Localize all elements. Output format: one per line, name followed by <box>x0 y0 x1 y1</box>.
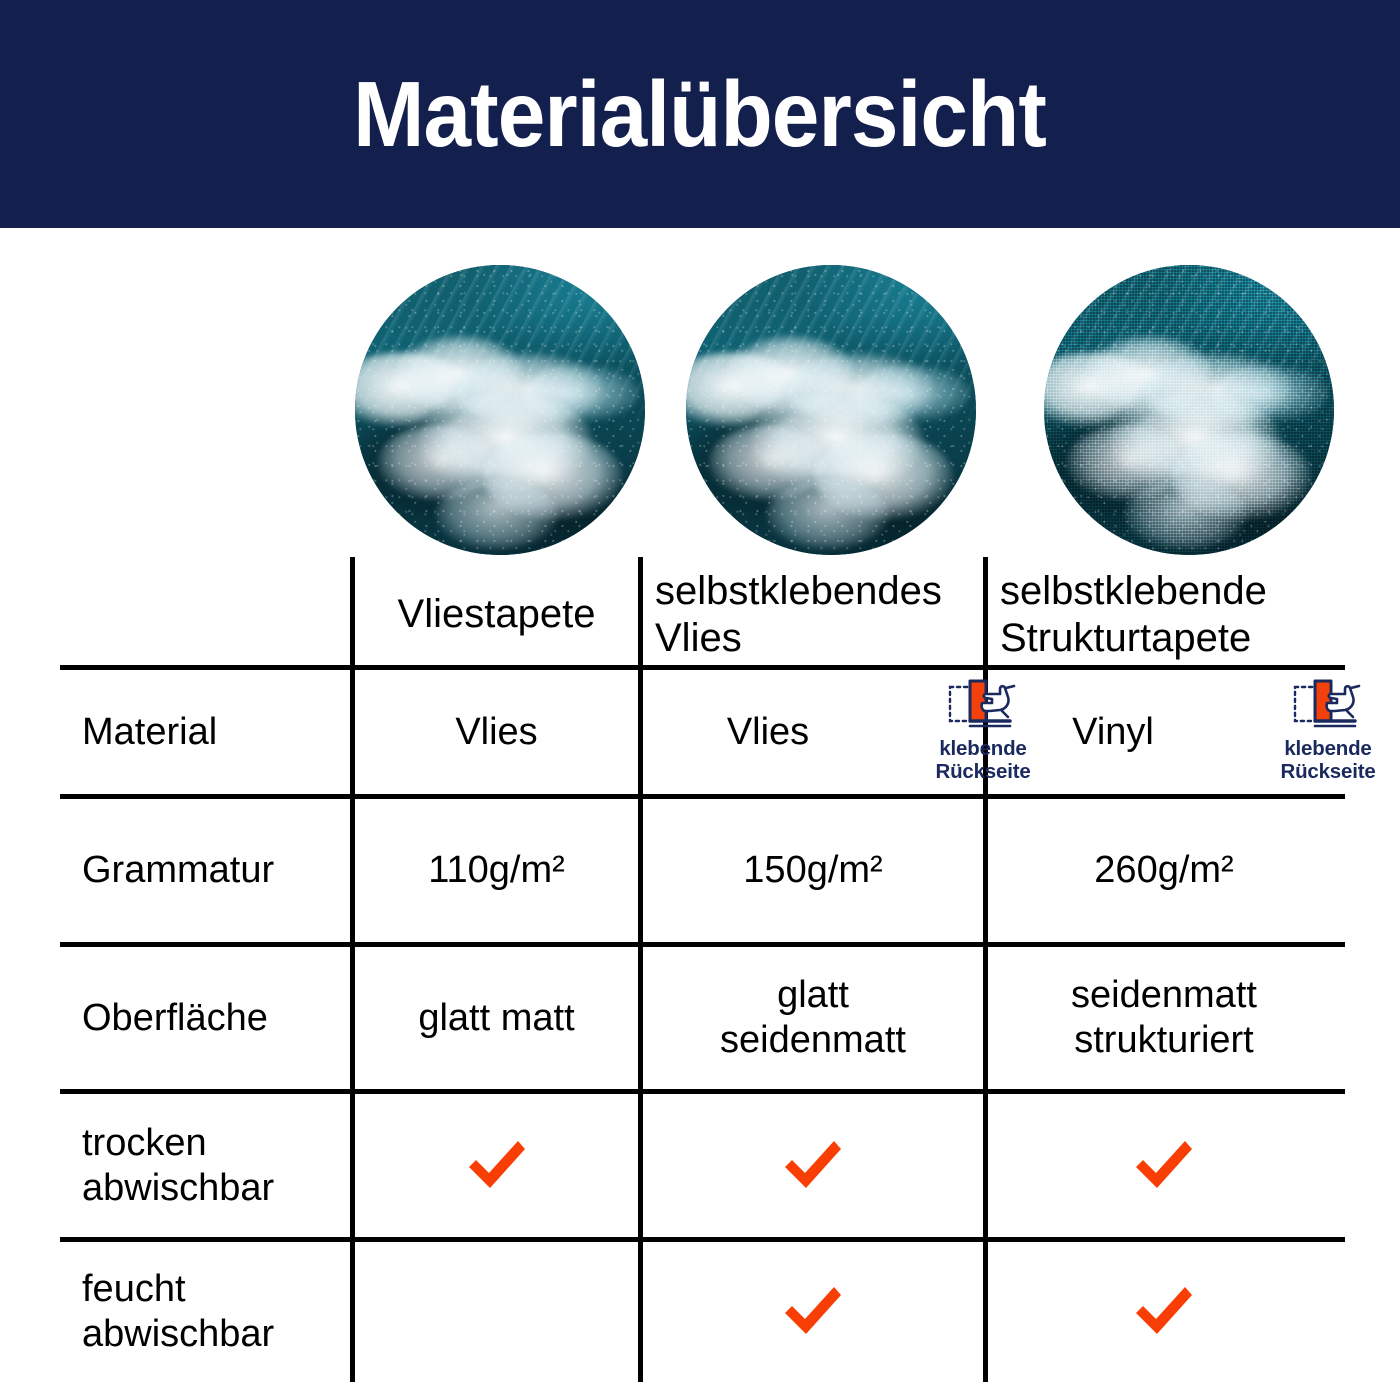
cell-oberflaeche-col2-text: glatt seidenmatt <box>698 973 928 1063</box>
checkmark-icon <box>780 1282 846 1342</box>
adhesive-backing-badge-label-col3: klebende Rückseite <box>1280 738 1375 784</box>
cell-oberflaeche-col3: seidenmatt strukturiert <box>988 947 1340 1089</box>
checkmark-icon <box>464 1136 530 1196</box>
cell-grammatur-col1: 110g/m² <box>355 799 638 942</box>
row-label-oberflaeche: Oberfläche <box>82 947 347 1089</box>
column-header-2: selbstklebendes Vlies <box>655 565 985 665</box>
cell-material-col3: Vinyl <box>988 670 1238 794</box>
check-trocken-col2 <box>643 1094 983 1237</box>
check-feucht-col2 <box>643 1242 983 1382</box>
column-header-3: selbstklebende Strukturtapete <box>1000 565 1340 665</box>
cell-oberflaeche-col2: glatt seidenmatt <box>643 947 983 1089</box>
structure-texture-overlay <box>1044 265 1334 555</box>
row-label-trocken-abwischbar-text: trocken abwischbar <box>82 1121 297 1211</box>
preview-selbstklebende-strukturtapete[interactable] <box>1044 265 1334 555</box>
adhesive-backing-badge-col3: klebende Rückseite <box>1268 675 1388 784</box>
badge-line-1: klebende <box>1284 737 1371 760</box>
check-feucht-col1-empty <box>355 1242 638 1382</box>
checkmark-icon <box>780 1136 846 1196</box>
material-comparison-table: Vliestapete selbstklebendes Vlies selbst… <box>60 557 1345 1382</box>
row-label-feucht-abwischbar: feucht abwischbar <box>82 1242 332 1382</box>
row-label-trocken-abwischbar: trocken abwischbar <box>82 1094 332 1237</box>
checkmark-icon <box>1131 1136 1197 1196</box>
page-title: Materialübersicht <box>354 68 1047 161</box>
preview-selbstklebendes-vlies[interactable] <box>686 265 976 555</box>
row-label-material: Material <box>82 670 347 794</box>
wave-image-circle-1 <box>355 265 645 555</box>
row-label-grammatur: Grammatur <box>82 799 347 942</box>
wave-image-circle-3 <box>1044 265 1334 555</box>
checkmark-icon <box>1131 1282 1197 1342</box>
product-preview-row <box>352 265 1345 557</box>
column-header-1: Vliestapete <box>355 565 638 665</box>
header-banner: Materialübersicht <box>0 0 1400 228</box>
cell-grammatur-col3: 260g/m² <box>988 799 1340 942</box>
wave-spray-1 <box>355 265 645 555</box>
wave-image-circle-2 <box>686 265 976 555</box>
preview-vliestapete[interactable] <box>355 265 645 555</box>
cell-material-col1: Vlies <box>355 670 638 794</box>
cell-oberflaeche-col1: glatt matt <box>355 947 638 1089</box>
check-trocken-col3 <box>988 1094 1340 1237</box>
cell-grammatur-col2: 150g/m² <box>643 799 983 942</box>
wave-spray-2 <box>686 265 976 555</box>
badge-line-2: Rückseite <box>1280 760 1375 783</box>
row-label-feucht-abwischbar-text: feucht abwischbar <box>82 1267 297 1357</box>
cell-oberflaeche-col3-text: seidenmatt strukturiert <box>1022 973 1307 1063</box>
peel-adhesive-backing-icon <box>1291 675 1365 735</box>
check-feucht-col3 <box>988 1242 1340 1382</box>
cell-material-col2: Vlies <box>643 670 893 794</box>
check-trocken-col1 <box>355 1094 638 1237</box>
